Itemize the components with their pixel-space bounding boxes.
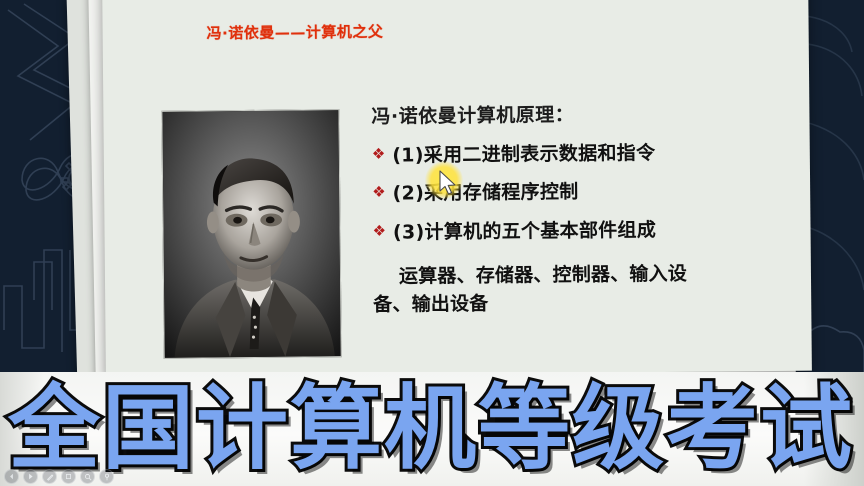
body-heading: 冯·诺依曼计算机原理： [371,101,801,131]
zoom-button[interactable] [80,469,95,484]
bullet-item-1: ❖ (1)采用二进制表示数据和指令 [372,138,802,169]
bullet-item-2: ❖ (2)采用存储程序控制 [372,177,802,208]
bullet-item-3-label: (3)计算机的五个基本部件组成 [393,217,656,246]
bullet-item-1-label: (1)采用二进制表示数据和指令 [392,140,655,169]
bullet-item-2-label: (2)采用存储程序控制 [393,179,579,207]
slide-video-frame: 冯·诺依曼——计算机之父 [0,0,864,486]
stamp-button[interactable] [61,469,76,484]
components-list-text: 运算器、存储器、控制器、输入设备、输出设备 [373,261,714,319]
diamond-bullet-icon: ❖ [372,220,386,243]
presentation-slide: 冯·诺依曼——计算机之父 [102,0,812,377]
von-neumann-portrait [161,109,341,359]
back-button[interactable] [4,469,19,484]
bullet-item-3: ❖ (3)计算机的五个基本部件组成 [372,216,802,247]
pin-button[interactable] [99,469,114,484]
bottom-banner: 全国计算机等级考试 [0,372,864,486]
diamond-bullet-icon: ❖ [372,181,386,204]
pen-button[interactable] [42,469,57,484]
player-toolbar[interactable] [4,469,114,484]
diamond-bullet-icon: ❖ [372,142,386,165]
slide-body: 冯·诺依曼计算机原理： ❖ (1)采用二进制表示数据和指令 ❖ (2)采用存储程… [371,101,803,320]
banner-headline: 全国计算机等级考试 [8,374,864,484]
slide-title: 冯·诺依曼——计算机之父 [207,21,384,44]
play-button[interactable] [23,469,38,484]
zigzag-line-art [8,10,74,140]
